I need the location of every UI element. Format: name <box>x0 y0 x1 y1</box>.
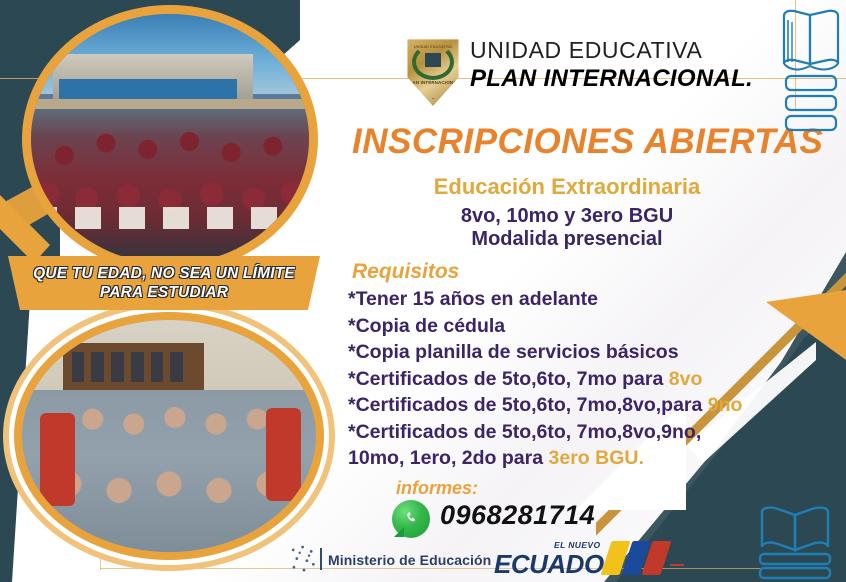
subtitle-modality: Modalida presencial <box>352 228 782 251</box>
requirement-item: *Certificados de 5to,6to, 7mo,8vo,9no, <box>348 419 818 446</box>
requirement-highlight: 9no <box>708 394 743 416</box>
requirements-heading: Requisitos <box>352 260 459 284</box>
subtitle-program: Educación Extraordinaria <box>352 174 782 200</box>
photo2-bulletin-board <box>63 343 204 394</box>
ecuador-dash <box>670 564 684 566</box>
whatsapp-icon[interactable] <box>392 500 430 538</box>
institution-line-2: PLAN INTERNACIONAL. <box>470 64 800 94</box>
photo2-person-red-right <box>266 408 301 501</box>
requirement-highlight: 3ero BGU. <box>549 447 644 469</box>
requirement-item: *Copia de cédula <box>348 313 818 340</box>
contact-phone-number[interactable]: 0968281714 <box>440 500 595 531</box>
requirement-text: *Certificados de 5to,6to, 7mo,8vo,para <box>348 394 708 416</box>
graduation-ceremony-photo <box>22 5 318 273</box>
ministry-logo-icon <box>286 542 322 578</box>
school-crest-icon: UNIDAD EDUCATIVA PLAN INTERNACIONAL <box>404 38 462 106</box>
requirement-text: *Copia de cédula <box>348 315 505 337</box>
crest-bottom-text: PLAN INTERNACIONAL <box>404 80 462 85</box>
ribbon-line-1: QUE TU EDAD, NO SEA UN LÍMITE <box>33 264 295 283</box>
adult-students-group-photo <box>14 312 324 560</box>
crest-emblem <box>425 53 441 67</box>
photo-graduates-crowd <box>31 109 309 264</box>
ribbon-line-2: PARA ESTUDIAR <box>100 283 228 302</box>
age-slogan-ribbon: QUE TU EDAD, NO SEA UN LÍMITE PARA ESTUD… <box>8 256 320 310</box>
requirements-list: *Tener 15 años en adelante*Copia de cédu… <box>348 286 818 472</box>
requirement-item: *Copia planilla de servicios básicos <box>348 339 818 366</box>
requirement-text: *Certificados de 5to,6to, 7mo para <box>348 368 669 390</box>
requirement-text: *Tener 15 años en adelante <box>348 288 598 310</box>
requirement-text: *Certificados de 5to,6to, 7mo,8vo,9no, <box>348 421 701 443</box>
institution-header: UNIDAD EDUCATIVA PLAN INTERNACIONAL. <box>470 36 800 94</box>
poster-canvas: QUE TU EDAD, NO SEA UN LÍMITE PARA ESTUD… <box>0 0 846 582</box>
photo-diplomas <box>31 207 309 230</box>
institution-line-1: UNIDAD EDUCATIVA <box>470 36 800 64</box>
ministry-label: Ministerio de Educación <box>328 552 491 568</box>
requirement-item: *Certificados de 5to,6to, 7mo para 8vo <box>348 366 818 393</box>
open-book-icon <box>752 500 838 580</box>
decor-hairline-bottom <box>100 568 800 569</box>
requirement-item: *Tener 15 años en adelante <box>348 286 818 313</box>
page-title: INSCRIPCIONES ABIERTAS <box>352 122 792 162</box>
photo2-person-red-left <box>40 413 75 506</box>
requirement-text: 10mo, 1ero, 2do para <box>348 447 549 469</box>
requirement-text: *Copia planilla de servicios básicos <box>348 341 679 363</box>
requirement-item: 10mo, 1ero, 2do para 3ero BGU. <box>348 445 818 472</box>
open-book-icon <box>778 6 844 134</box>
ecuador-brand-logo: EL NUEVO ECUADOR <box>494 538 669 580</box>
photo-building-blue-band <box>59 79 237 99</box>
requirement-item: *Certificados de 5to,6to, 7mo,8vo,para 9… <box>348 392 818 419</box>
contact-label: informes: <box>396 478 478 499</box>
subtitle-levels: 8vo, 10mo y 3ero BGU <box>352 205 782 228</box>
phone-handset-glyph <box>402 509 420 528</box>
requirement-highlight: 8vo <box>669 368 703 390</box>
ecuador-flag-icon <box>600 541 673 575</box>
